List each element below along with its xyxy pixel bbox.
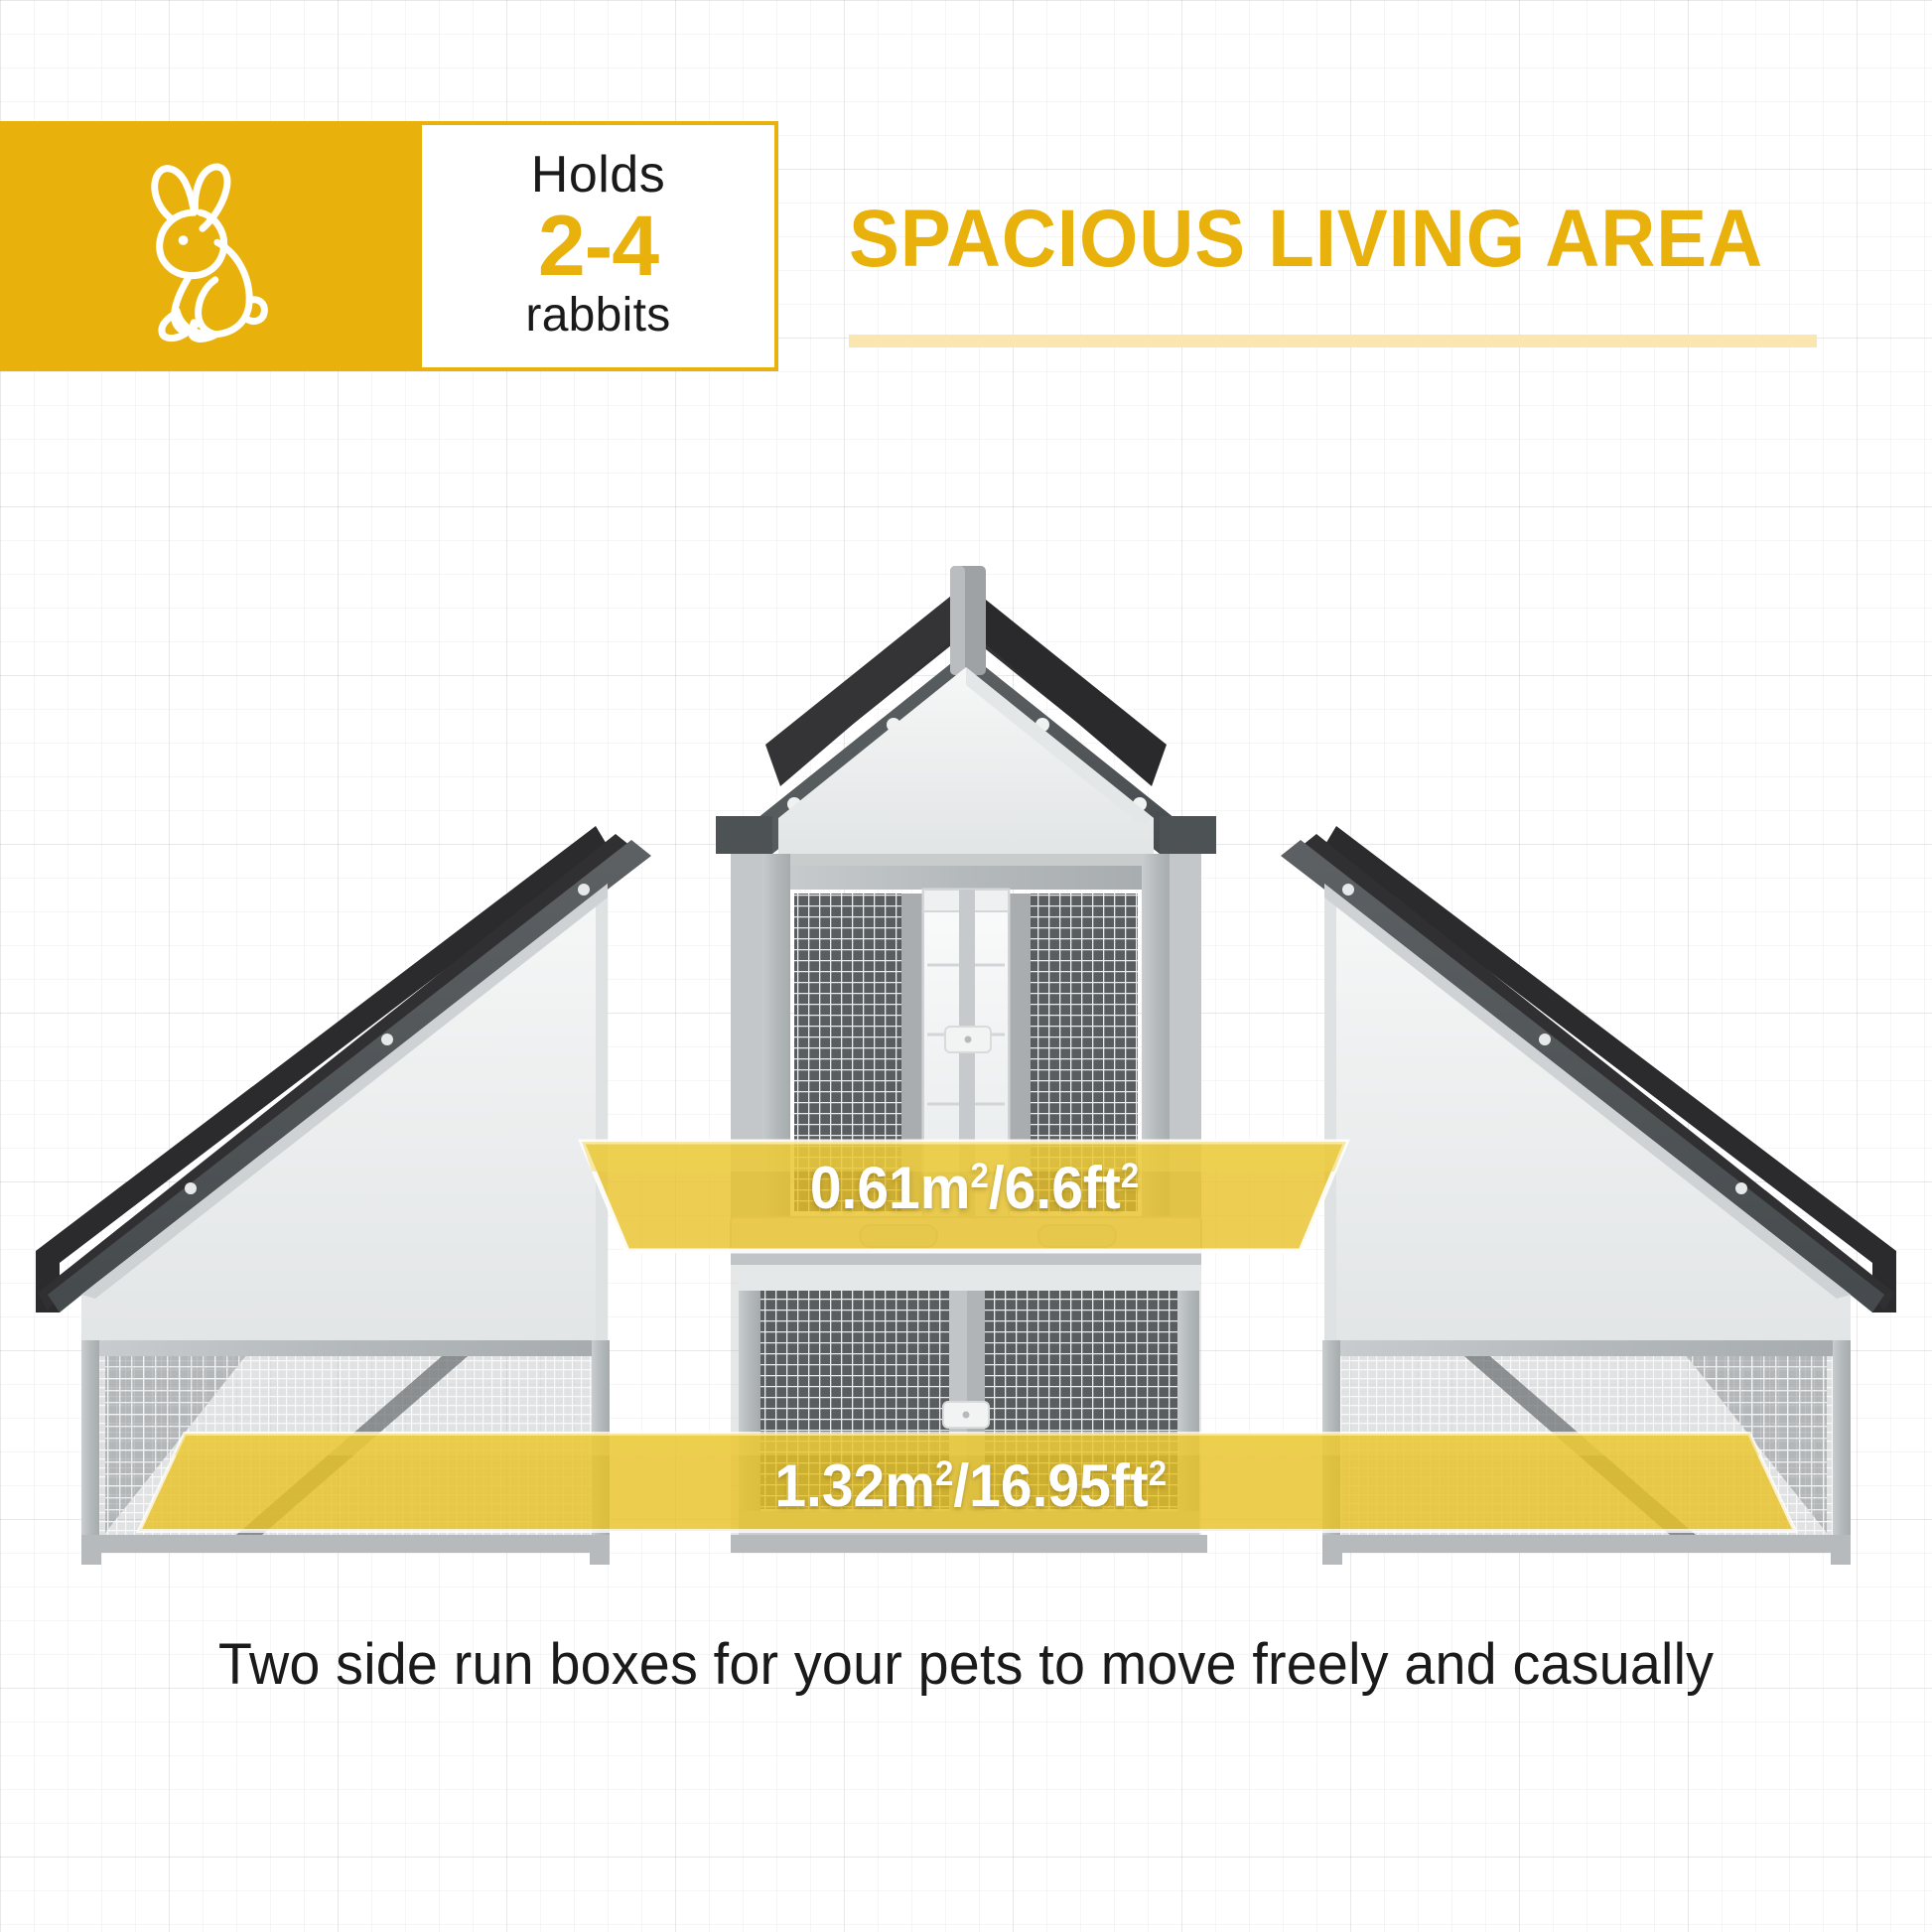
lower-area-metric: 1.32m: [774, 1452, 935, 1519]
lower-area-imperial: 16.95ft: [969, 1452, 1149, 1519]
upper-area-imperial-sup: 2: [1121, 1157, 1139, 1195]
right-wing-panel: [1324, 884, 1851, 1350]
product-illustration: [0, 556, 1932, 1588]
badge-text-panel: Holds 2-4 rabbits: [422, 121, 778, 371]
badge-unit-label: rabbits: [525, 292, 670, 340]
headline-block: SPACIOUS LIVING AREA: [849, 199, 1901, 347]
hutch-render: [0, 556, 1932, 1588]
headline-underline: [849, 335, 1817, 347]
capacity-badge: Holds 2-4 rabbits: [0, 121, 778, 371]
page-title: SPACIOUS LIVING AREA: [849, 199, 1828, 280]
badge-capacity-count: 2-4: [538, 201, 658, 293]
badge-holds-label: Holds: [531, 149, 665, 201]
rabbit-icon: [104, 140, 318, 353]
upper-area-imperial: 6.6ft: [1005, 1155, 1121, 1221]
lower-area-measurement: 1.32m2/16.95ft2: [49, 1451, 1884, 1520]
badge-icon-panel: [0, 121, 422, 371]
feature-caption: Two side run boxes for your pets to move…: [39, 1631, 1893, 1698]
upper-area-metric-sup: 2: [970, 1157, 988, 1195]
lower-area-metric-sup: 2: [935, 1454, 953, 1493]
upper-area-separator: /: [989, 1155, 1005, 1221]
lower-area-imperial-sup: 2: [1149, 1454, 1167, 1493]
left-wing-panel: [81, 884, 608, 1350]
lower-area-separator: /: [953, 1452, 969, 1519]
upper-area-measurement: 0.61m2/6.6ft2: [49, 1154, 1884, 1222]
upper-area-metric: 0.61m: [810, 1155, 971, 1221]
